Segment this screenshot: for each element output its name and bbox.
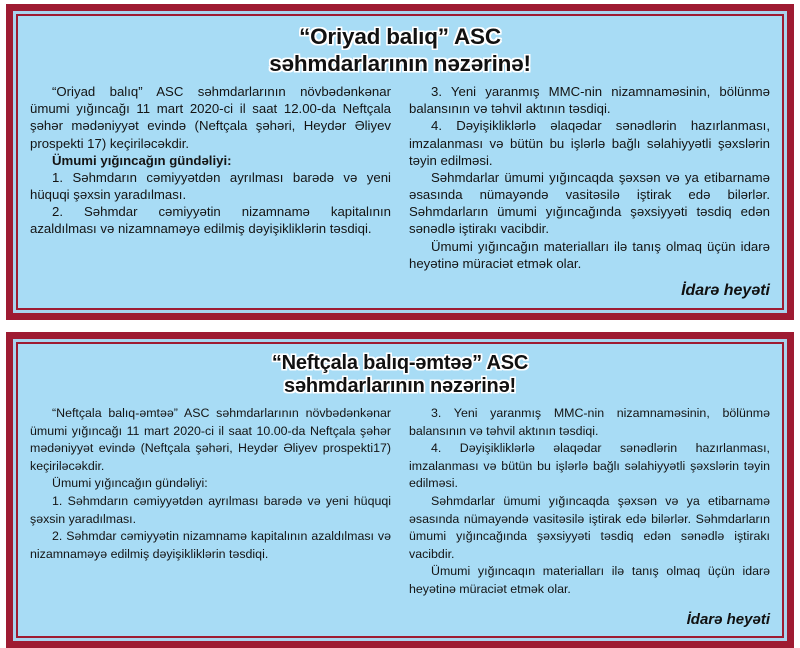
notice-signature: İdarə heyəti xyxy=(409,282,770,300)
paragraph-attendance: Səhmdarlar ümumi yığıncaqda şəxsən və ya… xyxy=(409,169,770,238)
notice-inner-ring: “Neftçala balıq-əmtəə” ASC səhmdarlarını… xyxy=(13,339,787,641)
paragraph-agenda-item-1: 1. Səhmdarın cəmiyyətdən ayrılması barəd… xyxy=(30,493,391,528)
notice-body: “Oriyad balıq” ASC səhmdarlarının nəzəri… xyxy=(18,16,782,308)
notice-hairline: “Neftçala balıq-əmtəə” ASC səhmdarlarını… xyxy=(16,342,784,638)
notice-right-column: 3. Yeni yaranmış MMC-nin nizamnaməsinin,… xyxy=(405,405,770,628)
notice-columns: “Oriyad balıq” ASC səhmdarlarının növbəd… xyxy=(30,83,770,300)
paragraph-intro: “Oriyad balıq” ASC səhmdarlarının növbəd… xyxy=(30,83,391,152)
notice-title-line-1: “Oriyad balıq” ASC xyxy=(30,24,770,51)
notice-title: “Neftçala balıq-əmtəə” ASC səhmdarlarını… xyxy=(30,350,770,399)
paragraph-agenda-item-4: 4. Dəyişikliklərlə əlaqədar sənədlərin h… xyxy=(409,117,770,168)
notice-right-column: 3. Yeni yaranmış MMC-nin nizamnaməsinin,… xyxy=(405,83,770,300)
paragraph-agenda-heading: Ümumi yığıncağın gündəliyi: xyxy=(30,152,391,169)
notice-columns: “Neftçala balıq-əmtəə” ASC səhmdarlarını… xyxy=(30,405,770,628)
paragraph-intro: “Neftçala balıq-əmtəə” ASC səhmdarlarını… xyxy=(30,405,391,475)
notice-signature: İdarə heyəti xyxy=(409,611,770,628)
notice-title-line-1: “Neftçala balıq-əmtəə” ASC xyxy=(30,352,770,376)
notice-left-column: “Oriyad balıq” ASC səhmdarlarının növbəd… xyxy=(30,83,405,237)
notice-hairline: “Oriyad balıq” ASC səhmdarlarının nəzəri… xyxy=(16,14,784,310)
paragraph-attendance: Səhmdarlar ümumi yığıncaqda şəxsən və ya… xyxy=(409,493,770,563)
paragraph-agenda-item-2: 2. Səhmdar cəmiyyətin nizamnamə kapitalı… xyxy=(30,203,391,237)
paragraph-agenda-item-1: 1. Səhmdarın cəmiyyətdən ayrılması barəd… xyxy=(30,169,391,203)
paragraph-materials: Ümumi yığıncaqın materialları ilə tanış … xyxy=(409,563,770,598)
paragraph-agenda-item-3: 3. Yeni yaranmış MMC-nin nizamnaməsinin,… xyxy=(409,83,770,117)
paragraph-agenda-heading: Ümumi yığıncağın gündəliyi: xyxy=(30,475,391,493)
notice-body: “Neftçala balıq-əmtəə” ASC səhmdarlarını… xyxy=(18,344,782,636)
notices-page: “Oriyad balıq” ASC səhmdarlarının nəzəri… xyxy=(0,0,800,540)
paragraph-agenda-item-2: 2. Səhmdar cəmiyyətin nizamnamə kapitalı… xyxy=(30,528,391,563)
paragraph-materials: Ümumi yığıncağın materialları ilə tanış … xyxy=(409,238,770,272)
notice-title-line-2: səhmdarlarının nəzərinə! xyxy=(30,375,770,399)
paragraph-agenda-item-3: 3. Yeni yaranmış MMC-nin nizamnaməsinin,… xyxy=(409,405,770,440)
paragraph-agenda-item-4: 4. Dəyişikliklərlə əlaqədar sənədlərin h… xyxy=(409,440,770,493)
notice-title: “Oriyad balıq” ASC səhmdarlarının nəzəri… xyxy=(30,22,770,77)
notice-oriyad-baliq: “Oriyad balıq” ASC səhmdarlarının nəzəri… xyxy=(6,4,794,320)
notice-neftcala-baliq-emtee: “Neftçala balıq-əmtəə” ASC səhmdarlarını… xyxy=(6,332,794,648)
notice-title-line-2: səhmdarlarının nəzərinə! xyxy=(30,51,770,78)
notice-inner-ring: “Oriyad balıq” ASC səhmdarlarının nəzəri… xyxy=(13,11,787,313)
